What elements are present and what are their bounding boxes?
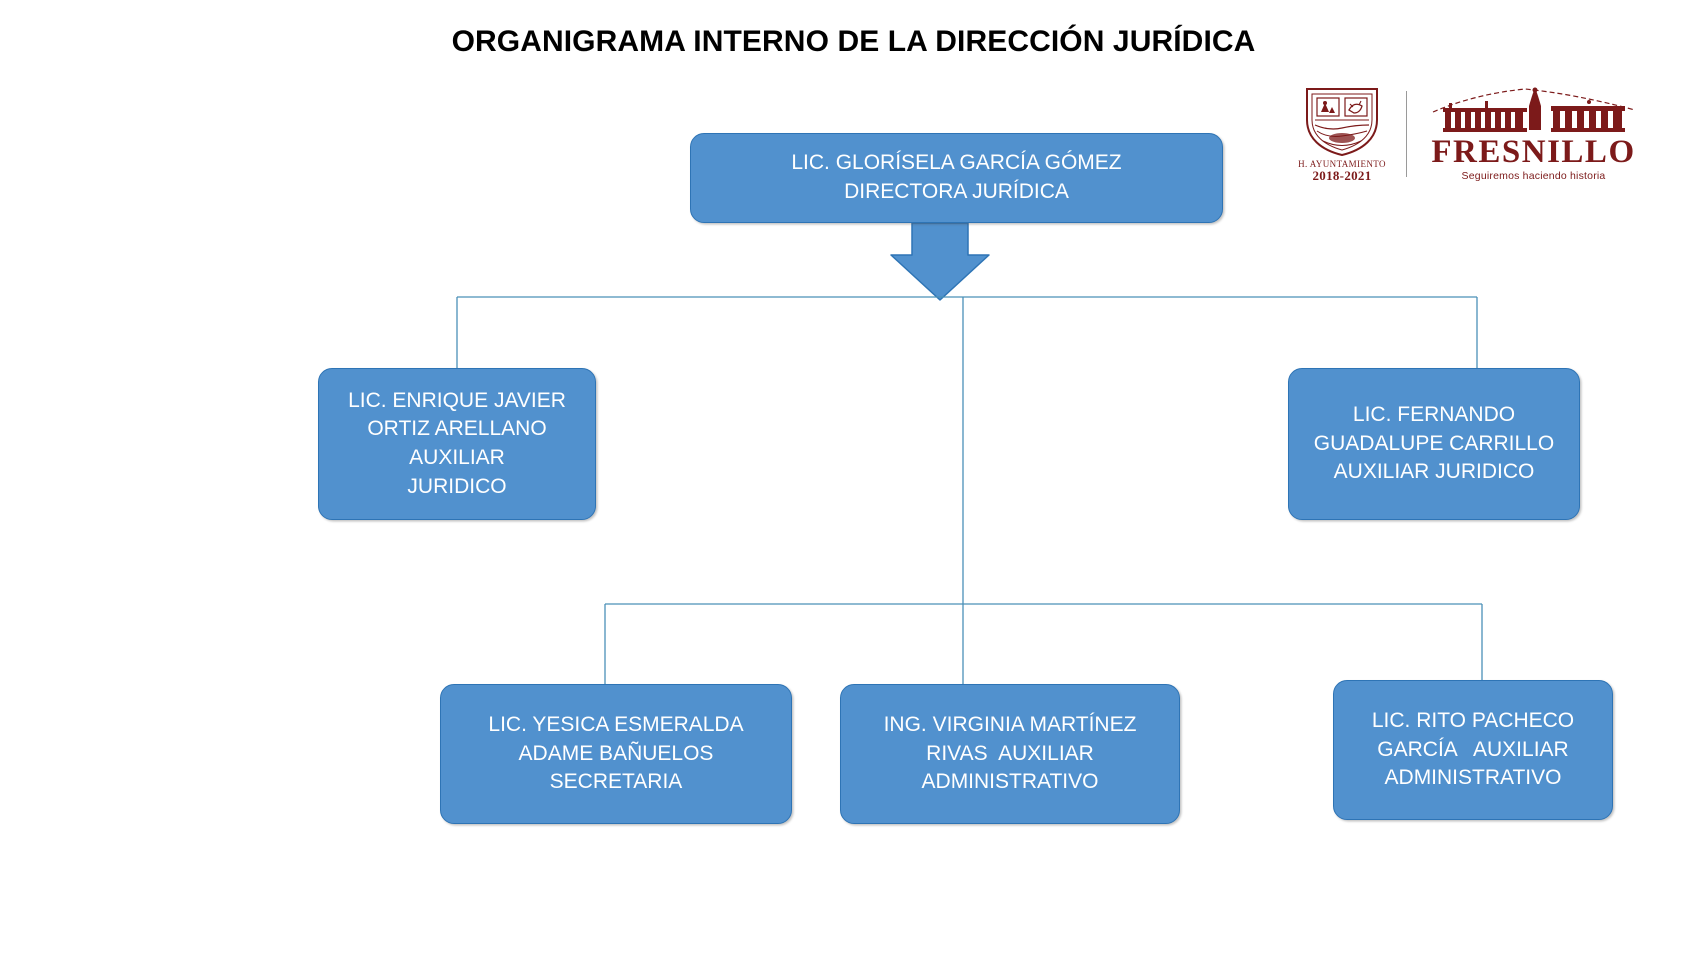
org-node-rito-pacheco-garcia[interactable]: LIC. RITO PACHECO GARCÍA AUXILIAR ADMINI… (1333, 680, 1613, 820)
org-node-fernando-guadalupe-carrillo[interactable]: LIC. FERNANDO GUADALUPE CARRILLO AUXILIA… (1288, 368, 1580, 520)
org-node-director[interactable]: LIC. GLORÍSELA GARCÍA GÓMEZ DIRECTORA JU… (690, 133, 1223, 223)
org-node-line: LIC. RITO PACHECO (1344, 707, 1602, 736)
org-node-line: AUXILIAR (329, 444, 585, 473)
org-node-line: ADMINISTRATIVO (851, 768, 1169, 797)
org-node-line: GARCÍA AUXILIAR (1344, 736, 1602, 765)
org-node-line: LIC. YESICA ESMERALDA (451, 711, 781, 740)
organization-chart-canvas: ORGANIGRAMA INTERNO DE LA DIRECCIÓN JURÍ… (0, 0, 1707, 960)
org-node-line: ADAME BAÑUELOS (451, 740, 781, 769)
org-node-enrique-javier-ortiz-arellano[interactable]: LIC. ENRIQUE JAVIER ORTIZ ARELLANO AUXIL… (318, 368, 596, 520)
org-node-line: LIC. ENRIQUE JAVIER (329, 387, 585, 416)
org-node-line: AUXILIAR JURIDICO (1299, 458, 1569, 487)
org-node-line: ORTIZ ARELLANO (329, 415, 585, 444)
org-node-line: JURIDICO (329, 473, 585, 502)
org-node-line: LIC. FERNANDO (1299, 401, 1569, 430)
org-node-line: RIVAS AUXILIAR (851, 740, 1169, 769)
org-node-line: SECRETARIA (451, 768, 781, 797)
arrow-down-icon (891, 223, 989, 300)
org-node-line: GUADALUPE CARRILLO (1299, 430, 1569, 459)
org-node-virginia-martinez-rivas[interactable]: ING. VIRGINIA MARTÍNEZ RIVAS AUXILIAR AD… (840, 684, 1180, 824)
org-node-line: LIC. GLORÍSELA GARCÍA GÓMEZ (701, 149, 1212, 178)
org-node-line: ING. VIRGINIA MARTÍNEZ (851, 711, 1169, 740)
org-node-line: DIRECTORA JURÍDICA (701, 178, 1212, 207)
org-node-yesica-esmeralda-adame-banuelos[interactable]: LIC. YESICA ESMERALDA ADAME BAÑUELOS SEC… (440, 684, 792, 824)
org-node-line: ADMINISTRATIVO (1344, 764, 1602, 793)
